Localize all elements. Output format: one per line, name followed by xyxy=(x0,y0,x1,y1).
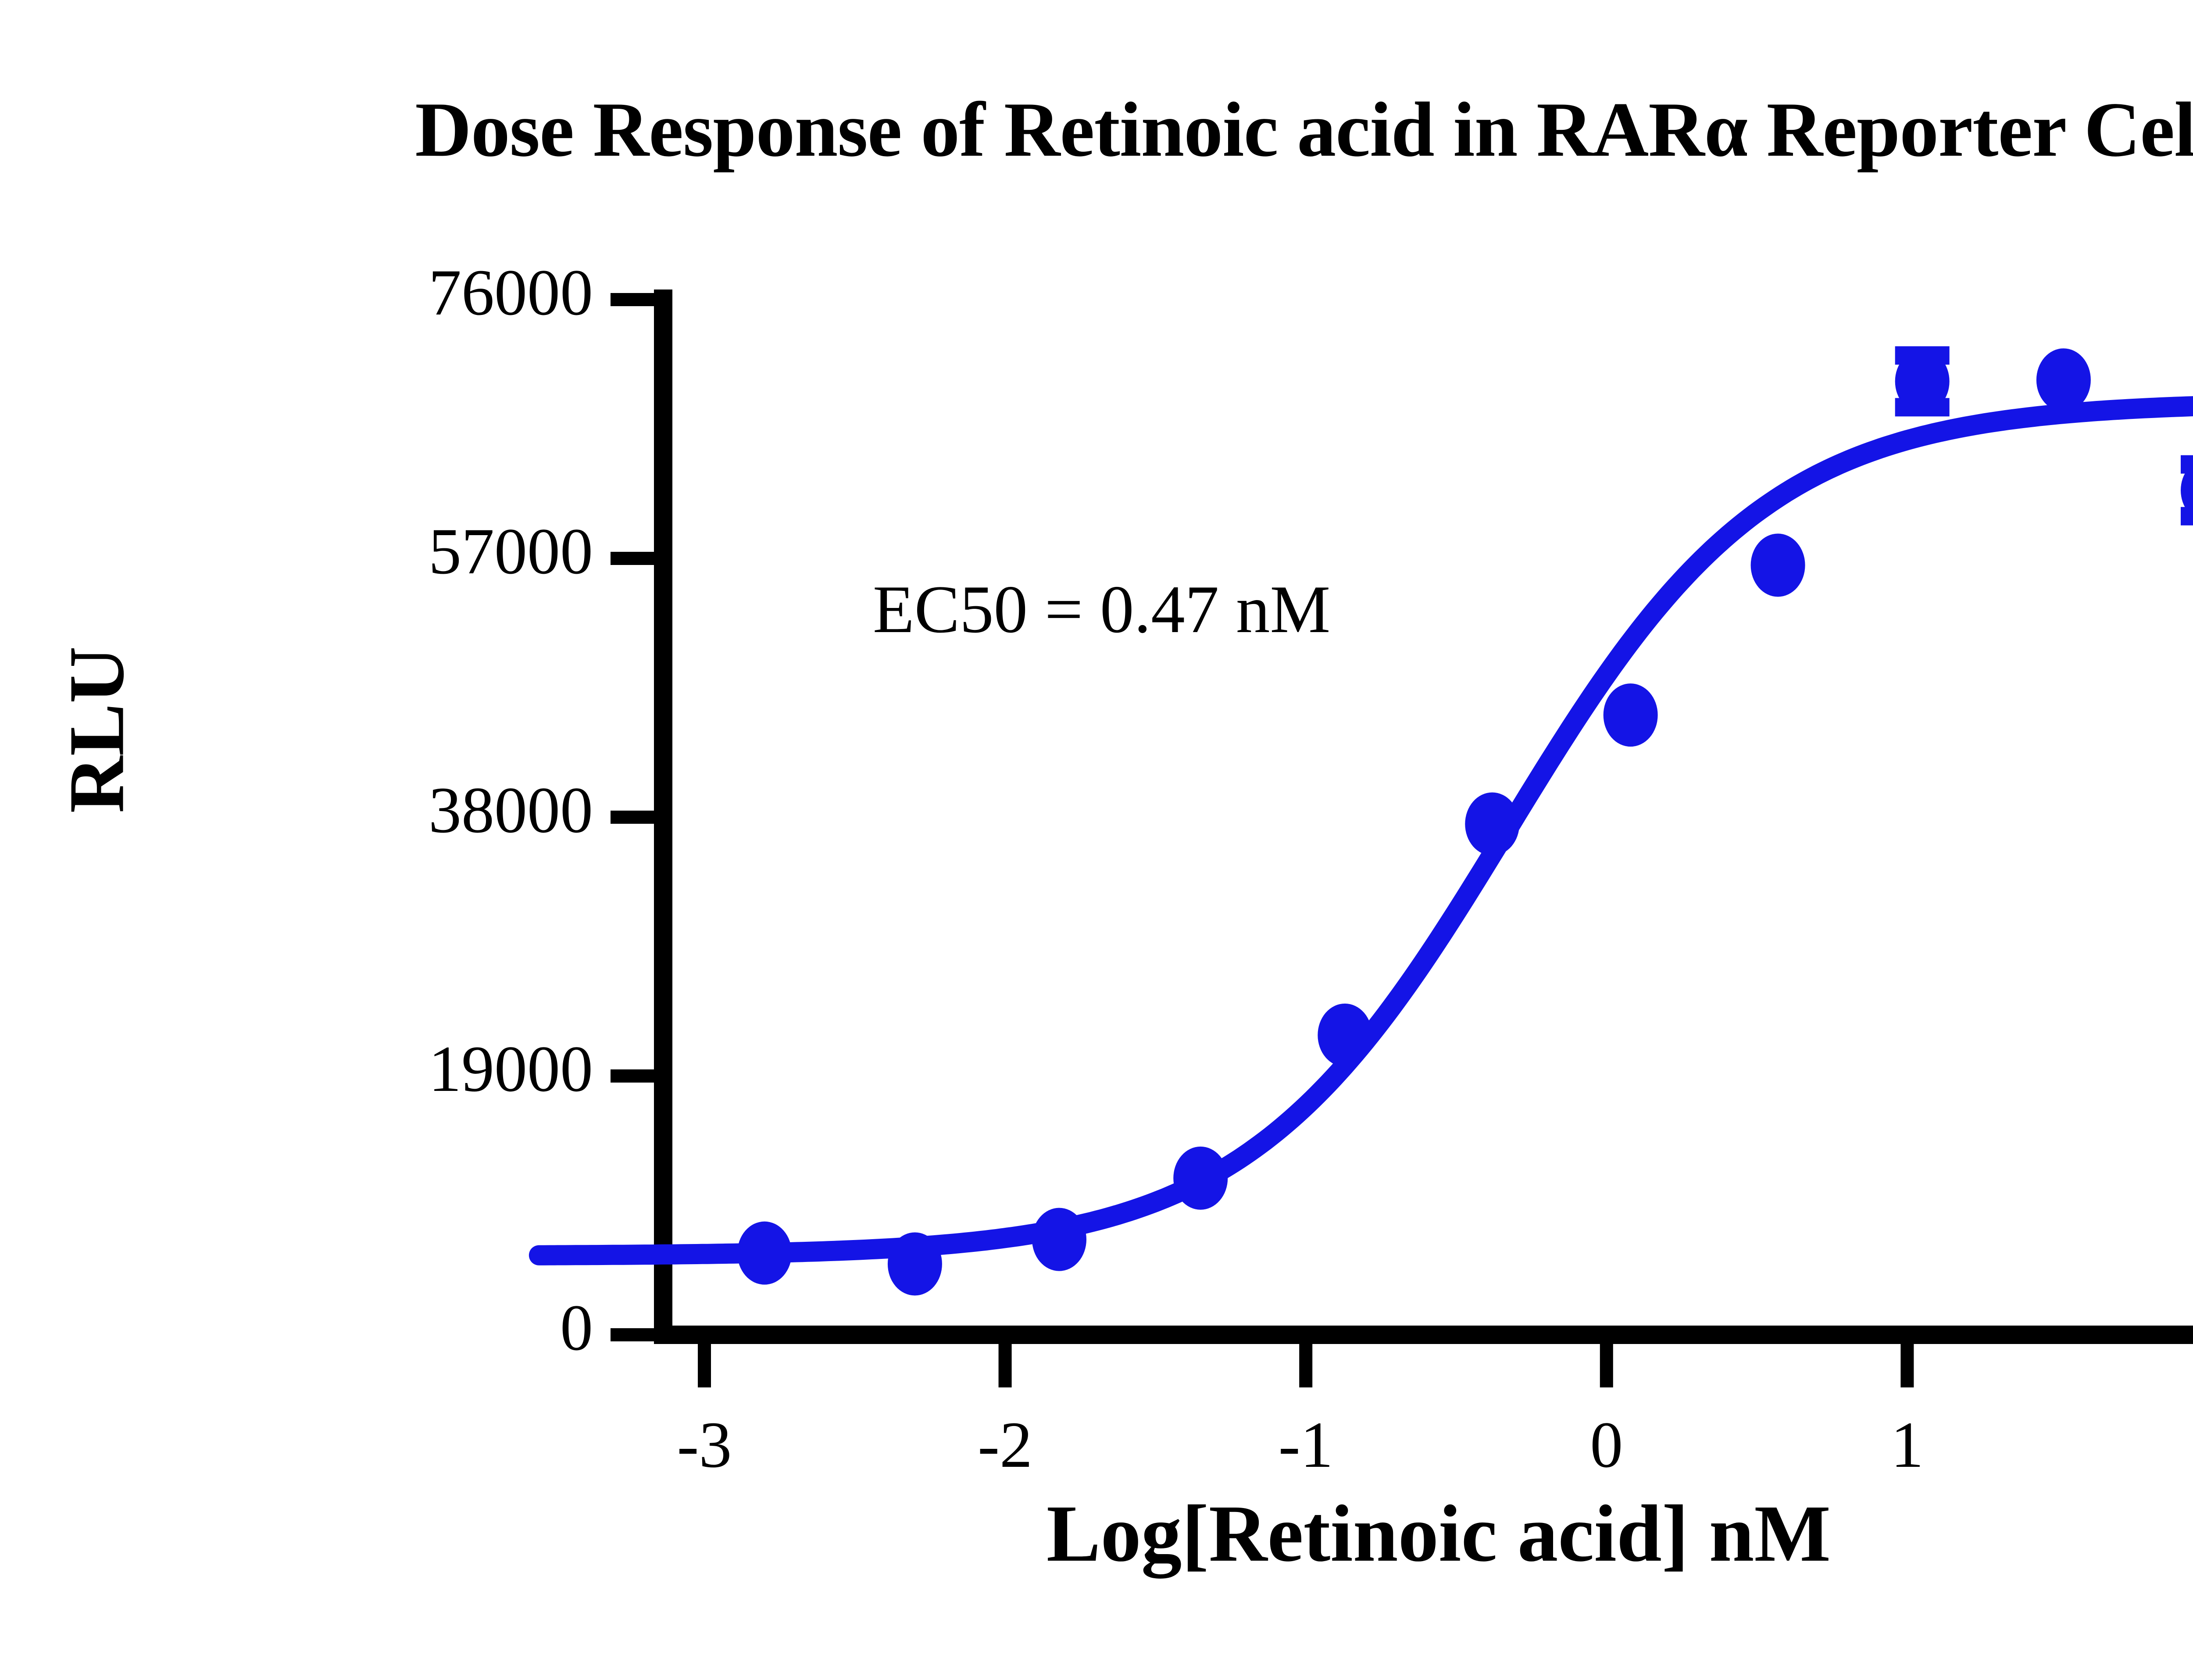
chart-page: Dose Response of Retinoic acid in RARα R… xyxy=(0,0,2193,1680)
data-point-marker xyxy=(888,1233,942,1296)
ec50-annotation: EC50 = 0.47 nM xyxy=(873,570,1330,649)
data-point-marker xyxy=(1895,350,1950,413)
y-tick-label: 38000 xyxy=(181,772,593,848)
y-tick-label: 19000 xyxy=(181,1031,593,1107)
fit-curve xyxy=(539,405,2193,1255)
y-tick-label: 76000 xyxy=(181,255,593,330)
y-axis-title: RLU xyxy=(51,489,142,971)
data-point-marker xyxy=(2036,348,2091,411)
x-tick-label: -3 xyxy=(595,1407,814,1483)
data-point-marker xyxy=(737,1222,792,1285)
data-point-marker xyxy=(1465,793,1519,856)
data-point-marker xyxy=(1032,1208,1086,1271)
data-point-marker xyxy=(1604,683,1658,747)
data-point-marker xyxy=(1751,534,1805,597)
x-tick-label: 0 xyxy=(1497,1407,1716,1483)
x-axis-title: Log[Retinoic acid] nM xyxy=(658,1487,2193,1580)
x-tick-label: -2 xyxy=(896,1407,1115,1483)
axes xyxy=(654,290,2193,1335)
data-point-marker xyxy=(1318,1004,1372,1067)
x-tick-label: -1 xyxy=(1196,1407,1415,1483)
x-tick-label: 2 xyxy=(2098,1407,2193,1483)
data-point-marker xyxy=(1173,1147,1228,1210)
x-tick-label: 1 xyxy=(1797,1407,2017,1483)
data-points xyxy=(737,348,2193,1295)
y-tick-label: 57000 xyxy=(181,514,593,589)
y-tick-label: 0 xyxy=(181,1290,593,1365)
